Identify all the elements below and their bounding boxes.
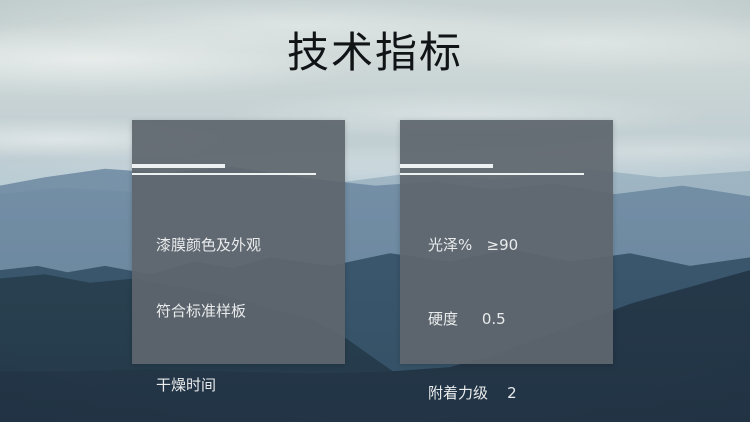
- spec-line: 附着力级 2: [428, 382, 605, 404]
- slide-canvas: 技术指标 漆膜颜色及外观 符合标准样板 干燥时间 表干 2h 实干 24h 光泽…: [0, 0, 750, 422]
- spec-line: 光泽% ≥90: [428, 234, 605, 256]
- spec-line: 漆膜颜色及外观: [156, 234, 337, 256]
- spec-panel-right: 光泽% ≥90 硬度 0.5 附着力级 2 柔韧性mm 1 粘度(涂-4粘度计)…: [400, 120, 613, 364]
- spec-line: 干燥时间: [156, 374, 337, 396]
- panel-rule-long: [400, 173, 584, 175]
- spec-panel-right-body: 光泽% ≥90 硬度 0.5 附着力级 2 柔韧性mm 1 粘度(涂-4粘度计)…: [428, 190, 605, 422]
- spec-line: 符合标准样板: [156, 300, 337, 322]
- panel-rule-long: [132, 173, 316, 175]
- panel-rule-short: [132, 164, 225, 168]
- panel-rule-short: [400, 164, 493, 168]
- page-title: 技术指标: [0, 30, 750, 76]
- spec-line: 硬度 0.5: [428, 308, 605, 330]
- spec-panel-left-body: 漆膜颜色及外观 符合标准样板 干燥时间 表干 2h 实干 24h: [156, 190, 337, 422]
- spec-panel-left: 漆膜颜色及外观 符合标准样板 干燥时间 表干 2h 实干 24h: [132, 120, 345, 364]
